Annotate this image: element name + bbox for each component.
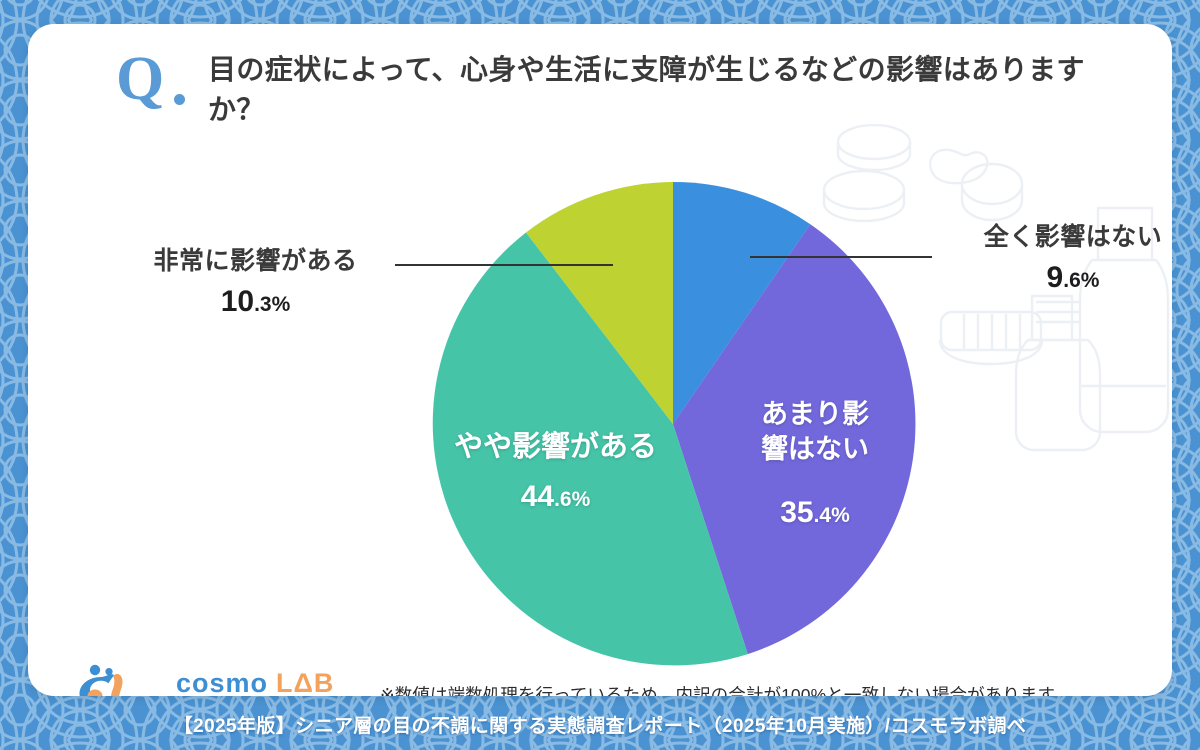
pie-label-strong-effect-name: 非常に影響がある <box>123 246 388 277</box>
pie-value-strong-effect: 10.3% <box>123 283 388 321</box>
pie-label-some-effect: やや影響がある 44.6% <box>428 429 683 516</box>
pie-label-little-effect-line1: あまり影 <box>720 397 910 432</box>
pie-label-some-effect-name: やや影響がある <box>454 431 657 463</box>
pie-value-no-effect: 9.6% <box>948 259 1172 297</box>
logo-wordmark: cosmoLΔB <box>176 668 334 696</box>
leader-line-no-effect <box>750 256 932 258</box>
pie-label-no-effect: 全く影響はない 9.6% <box>948 222 1172 297</box>
report-banner: 【2025年版】シニア層の目の不調に関する実態調査レポート（2025年10月実施… <box>0 698 1200 750</box>
content-card: Q 目の症状によって、心身や生活に支障が生じるなどの影響はありますか？ <box>28 24 1172 696</box>
logo-cosmo-text: cosmo <box>176 668 268 696</box>
cosmo-lab-mascot-icon <box>71 664 167 696</box>
leader-line-strong-effect <box>395 264 613 266</box>
report-banner-text: 【2025年版】シニア層の目の不調に関する実態調査レポート（2025年10月実施… <box>0 698 1200 750</box>
pie-value-little-effect: 35.4% <box>720 493 910 532</box>
pie-label-no-effect-name: 全く影響はない <box>948 222 1172 253</box>
pie-label-strong-effect: 非常に影響がある 10.3% <box>123 246 388 321</box>
pie-label-little-effect-line2: 響はない <box>720 432 910 467</box>
pie-value-some-effect: 44.6% <box>428 477 683 516</box>
logo-lab-text: LΔB <box>276 668 334 696</box>
pie-label-little-effect: あまり影 響はない 35.4% <box>720 397 910 532</box>
rounding-footnote: ※数値は端数処理を行っているため、内訳の合計が100%と一致しない場合があります… <box>380 682 1172 696</box>
cosmo-lab-logo: cosmoLΔB <box>71 664 321 696</box>
pie-chart: やや影響がある 44.6% あまり影 響はない 35.4% 非常に影響がある 1… <box>28 24 1172 696</box>
